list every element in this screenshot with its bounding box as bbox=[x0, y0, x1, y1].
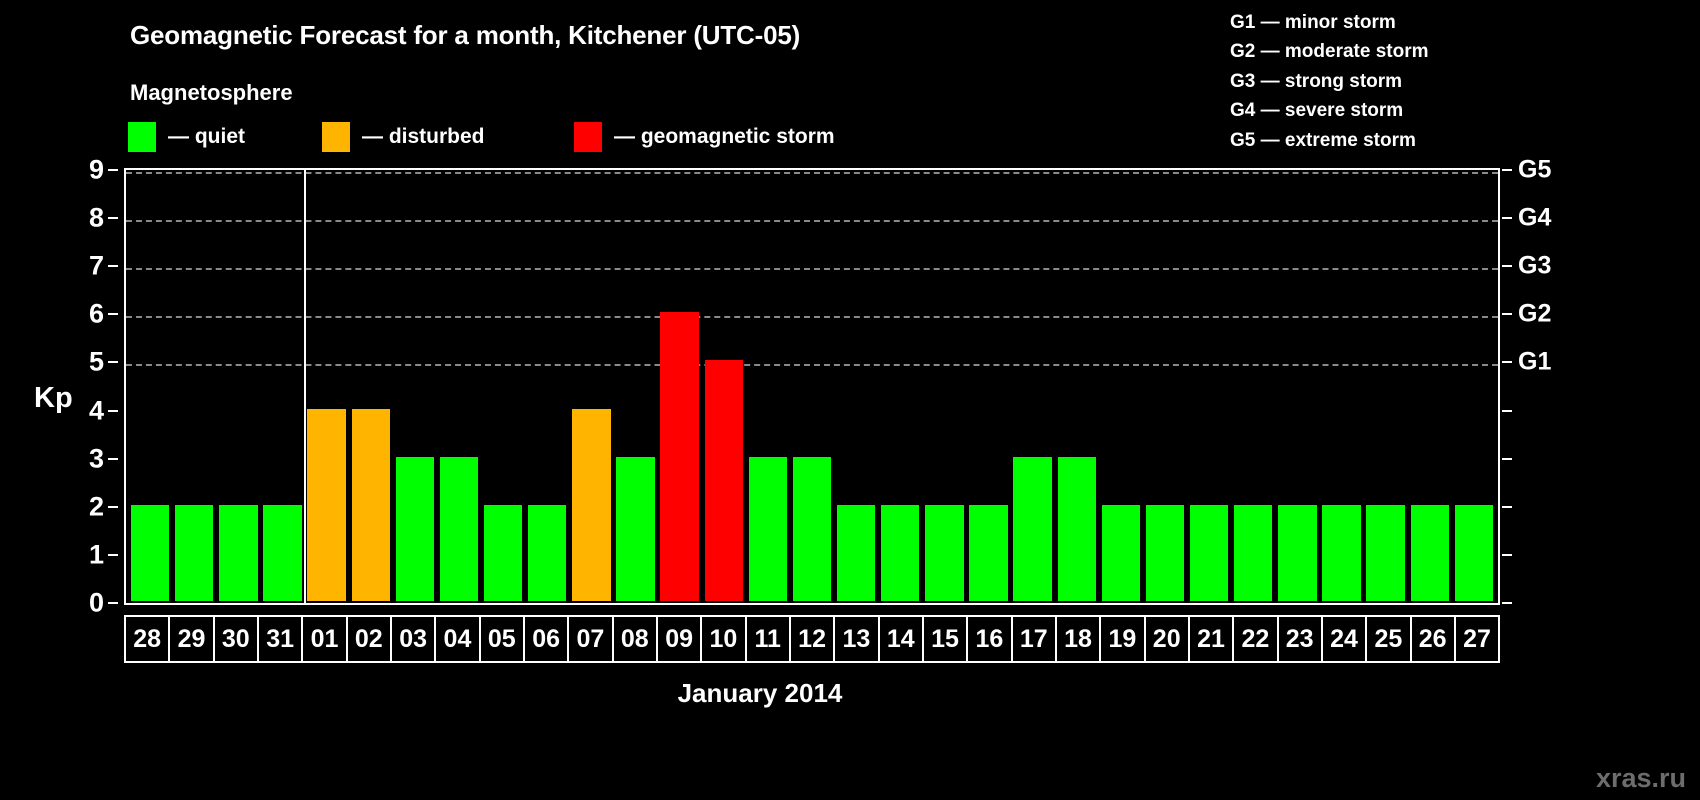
bar-25[interactable] bbox=[1366, 505, 1404, 601]
bar-15[interactable] bbox=[925, 505, 963, 601]
day-cell-23[interactable]: 23 bbox=[1279, 617, 1323, 661]
day-cell-22[interactable]: 22 bbox=[1234, 617, 1278, 661]
swatch-disturbed-icon bbox=[322, 122, 350, 152]
g-scale-row: G4 — severe storm bbox=[1230, 96, 1429, 125]
bar-01[interactable] bbox=[307, 409, 345, 601]
bar-slot[interactable] bbox=[790, 172, 834, 601]
y-tick-mark bbox=[108, 217, 118, 219]
bar-20[interactable] bbox=[1146, 505, 1184, 601]
y-axis-labels: 9876543210 bbox=[0, 168, 118, 605]
bar-16[interactable] bbox=[969, 505, 1007, 601]
day-cell-24[interactable]: 24 bbox=[1323, 617, 1367, 661]
y-tick-mark bbox=[108, 458, 118, 460]
bar-21[interactable] bbox=[1190, 505, 1228, 601]
day-axis: 2829303101020304050607080910111213141516… bbox=[124, 615, 1500, 663]
bar-23[interactable] bbox=[1278, 505, 1316, 601]
legend-item-quiet: — quiet bbox=[128, 122, 245, 152]
watermark: xras.ru bbox=[1596, 763, 1686, 794]
bar-slot[interactable] bbox=[702, 172, 746, 601]
g-tick-label-G1: G1 bbox=[1518, 348, 1551, 377]
day-cell-19[interactable]: 19 bbox=[1101, 617, 1145, 661]
bar-slot[interactable] bbox=[569, 172, 613, 601]
magnetosphere-heading: Magnetosphere bbox=[130, 80, 293, 106]
y-tick-label-9: 9 bbox=[89, 155, 104, 186]
bar-slot[interactable] bbox=[1187, 172, 1231, 601]
bar-slot[interactable] bbox=[1452, 172, 1496, 601]
y-tick-label-3: 3 bbox=[89, 443, 104, 474]
bar-slot[interactable] bbox=[349, 172, 393, 601]
g-tick-mark bbox=[1502, 410, 1512, 412]
bar-slot[interactable] bbox=[834, 172, 878, 601]
day-cell-29[interactable]: 29 bbox=[170, 617, 214, 661]
day-cell-15[interactable]: 15 bbox=[924, 617, 968, 661]
y-tick-label-4: 4 bbox=[89, 395, 104, 426]
bar-slot[interactable] bbox=[878, 172, 922, 601]
bar-slot[interactable] bbox=[216, 172, 260, 601]
bar-11[interactable] bbox=[749, 457, 787, 601]
g-scale-row: G2 — moderate storm bbox=[1230, 37, 1429, 66]
y-tick-mark bbox=[108, 554, 118, 556]
bar-10[interactable] bbox=[705, 360, 743, 601]
bar-slot[interactable] bbox=[481, 172, 525, 601]
day-cell-11[interactable]: 11 bbox=[747, 617, 791, 661]
g-scale-row: G5 — extreme storm bbox=[1230, 126, 1429, 155]
bar-27[interactable] bbox=[1455, 505, 1493, 601]
bar-slot[interactable] bbox=[613, 172, 657, 601]
y-tick-mark bbox=[108, 169, 118, 171]
day-cell-03[interactable]: 03 bbox=[392, 617, 436, 661]
bar-24[interactable] bbox=[1322, 505, 1360, 601]
bar-07[interactable] bbox=[572, 409, 610, 601]
bar-slot[interactable] bbox=[1275, 172, 1319, 601]
y-tick-mark bbox=[108, 602, 118, 604]
day-cell-25[interactable]: 25 bbox=[1367, 617, 1411, 661]
bar-29[interactable] bbox=[175, 505, 213, 601]
bar-slot[interactable] bbox=[1364, 172, 1408, 601]
bar-slot[interactable] bbox=[746, 172, 790, 601]
g-tick-mark bbox=[1502, 265, 1512, 267]
bar-slot[interactable] bbox=[128, 172, 172, 601]
bar-19[interactable] bbox=[1102, 505, 1140, 601]
y-tick-mark bbox=[108, 410, 118, 412]
bar-slot[interactable] bbox=[172, 172, 216, 601]
g-tick-mark bbox=[1502, 554, 1512, 556]
bar-slot[interactable] bbox=[1231, 172, 1275, 601]
g-tick-mark bbox=[1502, 602, 1512, 604]
day-cell-21[interactable]: 21 bbox=[1190, 617, 1234, 661]
bar-slot[interactable] bbox=[305, 172, 349, 601]
bar-slot[interactable] bbox=[1408, 172, 1452, 601]
bar-17[interactable] bbox=[1013, 457, 1051, 601]
g-tick-label-G3: G3 bbox=[1518, 252, 1551, 281]
day-cell-26[interactable]: 26 bbox=[1412, 617, 1456, 661]
day-cell-06[interactable]: 06 bbox=[525, 617, 569, 661]
legend-item-disturbed: — disturbed bbox=[322, 122, 485, 152]
bar-slot[interactable] bbox=[1011, 172, 1055, 601]
bar-slot[interactable] bbox=[525, 172, 569, 601]
y-tick-mark bbox=[108, 506, 118, 508]
chart-plot-wrapper bbox=[124, 168, 1500, 605]
y-tick-mark bbox=[108, 361, 118, 363]
y-tick-label-5: 5 bbox=[89, 347, 104, 378]
bar-slot[interactable] bbox=[922, 172, 966, 601]
g-axis-labels: G5G4G3G2G1 bbox=[1502, 168, 1692, 605]
bar-22[interactable] bbox=[1234, 505, 1272, 601]
g-scale-legend: G1 — minor storm G2 — moderate storm G3 … bbox=[1230, 8, 1429, 155]
legend-item-storm: — geomagnetic storm bbox=[574, 122, 835, 152]
day-cell-27[interactable]: 27 bbox=[1456, 617, 1498, 661]
day-cell-07[interactable]: 07 bbox=[569, 617, 613, 661]
y-tick-mark bbox=[108, 313, 118, 315]
day-cell-14[interactable]: 14 bbox=[880, 617, 924, 661]
x-axis-caption: January 2014 bbox=[0, 678, 1700, 709]
day-cell-08[interactable]: 08 bbox=[614, 617, 658, 661]
bar-slot[interactable] bbox=[437, 172, 481, 601]
bar-28[interactable] bbox=[131, 505, 169, 601]
day-cell-30[interactable]: 30 bbox=[215, 617, 259, 661]
day-cell-01[interactable]: 01 bbox=[303, 617, 347, 661]
chart-bars bbox=[128, 172, 1496, 601]
bar-04[interactable] bbox=[440, 457, 478, 601]
bar-03[interactable] bbox=[396, 457, 434, 601]
chart-plot-area bbox=[124, 168, 1500, 605]
day-cell-18[interactable]: 18 bbox=[1057, 617, 1101, 661]
bar-05[interactable] bbox=[484, 505, 522, 601]
g-tick-mark bbox=[1502, 361, 1512, 363]
bar-31[interactable] bbox=[263, 505, 301, 601]
y-tick-label-6: 6 bbox=[89, 299, 104, 330]
day-cell-13[interactable]: 13 bbox=[835, 617, 879, 661]
day-cell-05[interactable]: 05 bbox=[481, 617, 525, 661]
g-tick-mark bbox=[1502, 217, 1512, 219]
bar-18[interactable] bbox=[1058, 457, 1096, 601]
bar-slot[interactable] bbox=[1055, 172, 1099, 601]
y-tick-label-0: 0 bbox=[89, 588, 104, 619]
g-tick-mark bbox=[1502, 506, 1512, 508]
bar-slot[interactable] bbox=[1143, 172, 1187, 601]
day-cell-20[interactable]: 20 bbox=[1146, 617, 1190, 661]
y-tick-label-2: 2 bbox=[89, 491, 104, 522]
y-tick-label-8: 8 bbox=[89, 203, 104, 234]
bar-slot[interactable] bbox=[1099, 172, 1143, 601]
g-tick-label-G2: G2 bbox=[1518, 300, 1551, 329]
day-cell-02[interactable]: 02 bbox=[348, 617, 392, 661]
g-scale-row: G1 — minor storm bbox=[1230, 8, 1429, 37]
swatch-storm-icon bbox=[574, 122, 602, 152]
g-tick-label-G4: G4 bbox=[1518, 204, 1551, 233]
g-scale-row: G3 — strong storm bbox=[1230, 67, 1429, 96]
y-tick-label-1: 1 bbox=[89, 539, 104, 570]
y-tick-mark bbox=[108, 265, 118, 267]
legend-label-storm: — geomagnetic storm bbox=[614, 125, 835, 149]
swatch-quiet-icon bbox=[128, 122, 156, 152]
bar-slot[interactable] bbox=[966, 172, 1010, 601]
bar-slot[interactable] bbox=[393, 172, 437, 601]
bar-09[interactable] bbox=[660, 312, 698, 601]
bar-26[interactable] bbox=[1411, 505, 1449, 601]
day-cell-04[interactable]: 04 bbox=[436, 617, 480, 661]
bar-slot[interactable] bbox=[658, 172, 702, 601]
day-cell-10[interactable]: 10 bbox=[702, 617, 746, 661]
day-cell-16[interactable]: 16 bbox=[968, 617, 1012, 661]
g-tick-label-G5: G5 bbox=[1518, 156, 1551, 185]
bar-06[interactable] bbox=[528, 505, 566, 601]
legend-label-quiet: — quiet bbox=[168, 125, 245, 149]
g-tick-mark bbox=[1502, 313, 1512, 315]
legend-label-disturbed: — disturbed bbox=[362, 125, 485, 149]
day-cell-17[interactable]: 17 bbox=[1013, 617, 1057, 661]
bar-12[interactable] bbox=[793, 457, 831, 601]
g-tick-mark bbox=[1502, 458, 1512, 460]
bar-14[interactable] bbox=[881, 505, 919, 601]
day-cell-09[interactable]: 09 bbox=[658, 617, 702, 661]
bar-13[interactable] bbox=[837, 505, 875, 601]
g-tick-mark bbox=[1502, 169, 1512, 171]
day-cell-31[interactable]: 31 bbox=[259, 617, 303, 661]
bar-slot[interactable] bbox=[260, 172, 304, 601]
bar-02[interactable] bbox=[352, 409, 390, 601]
bar-slot[interactable] bbox=[1319, 172, 1363, 601]
page-title: Geomagnetic Forecast for a month, Kitche… bbox=[130, 20, 800, 51]
bar-08[interactable] bbox=[616, 457, 654, 601]
y-tick-label-7: 7 bbox=[89, 251, 104, 282]
day-cell-28[interactable]: 28 bbox=[126, 617, 170, 661]
day-cell-12[interactable]: 12 bbox=[791, 617, 835, 661]
bar-30[interactable] bbox=[219, 505, 257, 601]
